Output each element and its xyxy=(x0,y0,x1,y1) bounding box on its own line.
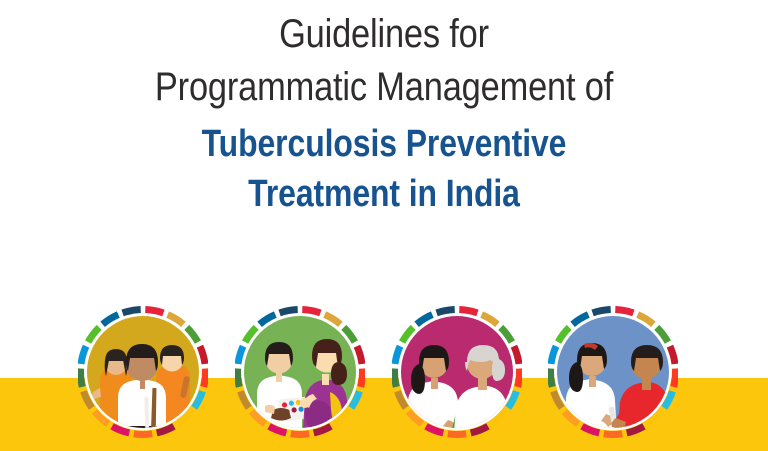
illustration-row xyxy=(0,302,768,451)
title-line-4: Treatment in India xyxy=(61,175,706,213)
publication-cover: Guidelines for Programmatic Management o… xyxy=(0,0,768,451)
counselling-illustration xyxy=(392,302,522,451)
illustration-family-group xyxy=(78,302,208,451)
title-line-2: Programmatic Management of xyxy=(54,67,714,125)
family-group-illustration xyxy=(78,302,208,451)
illustration-dispensing-medicine xyxy=(548,302,678,451)
title-line-1: Guidelines for xyxy=(54,14,714,67)
illustration-counselling-elderly-man xyxy=(392,302,522,451)
illustration-health-worker-and-pregnant-woman xyxy=(235,302,365,451)
cover-title-block: Guidelines for Programmatic Management o… xyxy=(0,14,768,213)
title-line-3: Tuberculosis Preventive xyxy=(61,125,706,175)
dispensing-medicine-illustration xyxy=(548,302,678,451)
pregnant-woman-illustration xyxy=(235,302,365,451)
